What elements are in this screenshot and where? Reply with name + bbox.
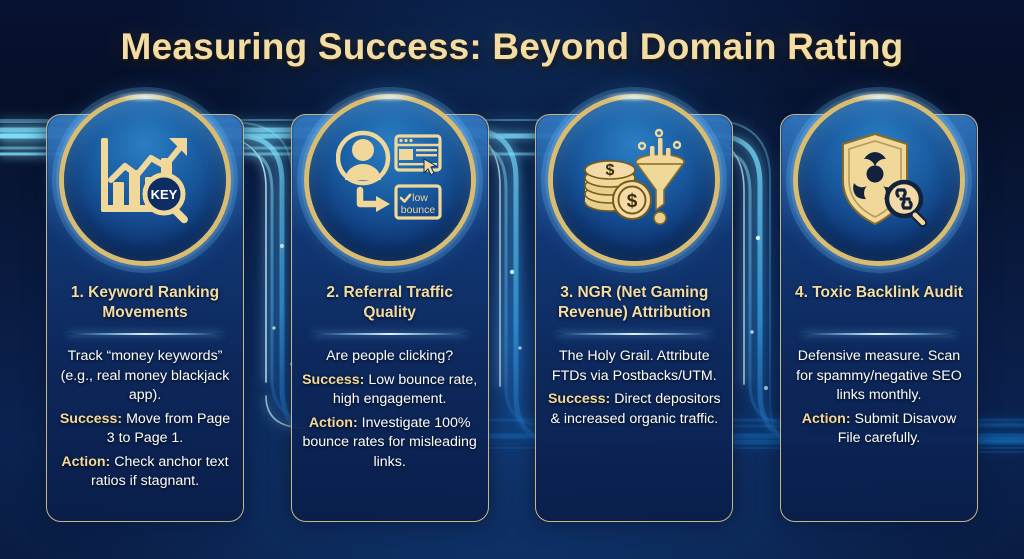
card-title-3: 3. NGR (Net Gaming Revenue) Attribution xyxy=(545,283,723,323)
card-body-4: 4. Toxic Backlink Audit Defensive measur… xyxy=(781,283,977,511)
action-text: Submit Disavow File carefully. xyxy=(838,411,957,447)
card-desc-1: Track “money keywords” (e.g., real money… xyxy=(56,347,234,492)
key-label: KEY xyxy=(151,187,178,202)
desc-text: Defensive measure. Scan for spammy/negat… xyxy=(796,348,962,403)
action-label: Action: xyxy=(61,454,110,470)
success-label: Success: xyxy=(302,372,364,388)
svg-text:$: $ xyxy=(627,191,638,212)
medallion-3: $ $ xyxy=(553,99,715,261)
card-keyword-ranking[interactable]: KEY 1. Keyword Ranking Movements Track “… xyxy=(46,114,244,522)
page-title-wrap: Measuring Success: Beyond Domain Rating xyxy=(0,26,1024,68)
desc-line: Success: Low bounce rate, high engagemen… xyxy=(301,371,479,410)
bounce-label: bounce xyxy=(400,204,435,216)
medallion-2: low bounce xyxy=(309,99,471,261)
card-row: KEY 1. Keyword Ranking Movements Track “… xyxy=(46,114,978,520)
action-label: Action: xyxy=(309,415,358,431)
success-text: Move from Page 3 to Page 1. xyxy=(107,411,230,447)
keyword-ranking-chart-icon: KEY xyxy=(91,128,199,232)
card-toxic-backlink[interactable]: 4. Toxic Backlink Audit Defensive measur… xyxy=(780,114,978,522)
action-label: Action: xyxy=(802,411,851,427)
success-label: Success: xyxy=(60,411,122,427)
low-label: low xyxy=(412,192,428,204)
card-body-3: 3. NGR (Net Gaming Revenue) Attribution … xyxy=(536,283,732,511)
toxic-backlink-shield-icon xyxy=(825,128,933,232)
desc-line: The Holy Grail. Attribute FTDs via Postb… xyxy=(545,347,723,386)
card-referral-traffic[interactable]: low bounce 2. Referral Traffic Quality A… xyxy=(291,114,489,522)
desc-line: Defensive measure. Scan for spammy/negat… xyxy=(790,347,968,406)
infographic-root: Measuring Success: Beyond Domain Rating xyxy=(0,0,1024,559)
card-divider-3 xyxy=(557,333,711,335)
card-title-2: 2. Referral Traffic Quality xyxy=(301,283,479,323)
card-body-1: 1. Keyword Ranking Movements Track “mone… xyxy=(47,283,243,511)
desc-text: Track “money keywords” (e.g., real money… xyxy=(61,348,230,403)
card-ngr-attribution[interactable]: $ $ xyxy=(535,114,733,522)
card-divider-1 xyxy=(68,333,222,335)
card-divider-4 xyxy=(802,333,956,335)
card-desc-2: Are people clicking? Success: Low bounce… xyxy=(301,347,479,472)
desc-text: Are people clicking? xyxy=(326,348,453,364)
svg-text:$: $ xyxy=(606,162,615,179)
desc-line: Success: Direct depositors & increased o… xyxy=(545,390,723,429)
desc-line: Success: Move from Page 3 to Page 1. xyxy=(56,410,234,449)
card-desc-4: Defensive measure. Scan for spammy/negat… xyxy=(790,347,968,449)
medallion-1: KEY xyxy=(64,99,226,261)
referral-traffic-quality-icon: low bounce xyxy=(336,128,444,232)
desc-line: Action: Check anchor text ratios if stag… xyxy=(56,453,234,492)
page-title: Measuring Success: Beyond Domain Rating xyxy=(121,26,904,68)
card-desc-3: The Holy Grail. Attribute FTDs via Postb… xyxy=(545,347,723,429)
success-label: Success: xyxy=(548,391,610,407)
ngr-attribution-funnel-icon: $ $ xyxy=(580,128,688,232)
card-divider-2 xyxy=(313,333,467,335)
desc-text: The Holy Grail. Attribute FTDs via Postb… xyxy=(552,348,717,384)
card-title-4: 4. Toxic Backlink Audit xyxy=(790,283,968,323)
card-title-1: 1. Keyword Ranking Movements xyxy=(56,283,234,323)
medallion-4 xyxy=(798,99,960,261)
desc-line: Track “money keywords” (e.g., real money… xyxy=(56,347,234,406)
desc-line: Action: Submit Disavow File carefully. xyxy=(790,410,968,449)
action-text: Check anchor text ratios if stagnant. xyxy=(91,454,229,490)
desc-line: Action: Investigate 100% bounce rates fo… xyxy=(301,414,479,473)
desc-line: Are people clicking? xyxy=(301,347,479,367)
card-body-2: 2. Referral Traffic Quality Are people c… xyxy=(292,283,488,511)
